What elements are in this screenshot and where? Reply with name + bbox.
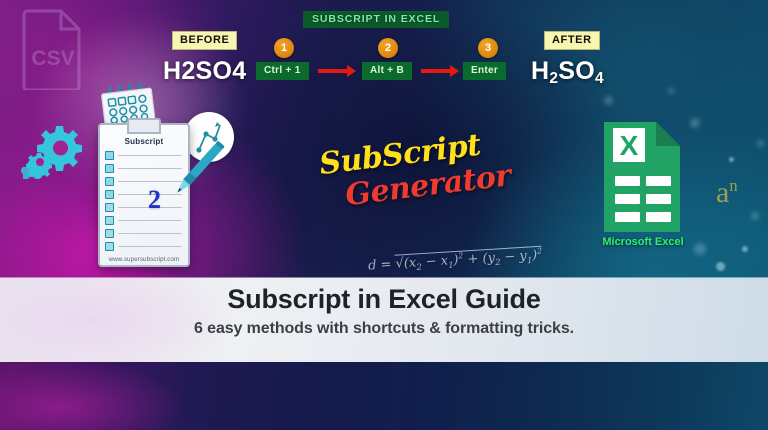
after-formula-so: SO	[558, 57, 595, 85]
infographic-canvas: CSV XLS SUBSCRIPT IN EXCEL BEFORE AFTER …	[0, 0, 768, 430]
checkbox-checked[interactable]	[105, 177, 114, 186]
step-2-badge: 2	[378, 38, 398, 58]
after-formula-sub-2: 2	[549, 70, 558, 87]
bottom-strip	[0, 362, 768, 430]
excel-logo-label: Microsoft Excel	[588, 236, 698, 248]
formula-lhs: d =	[368, 257, 396, 274]
checkbox-checked[interactable]	[105, 190, 114, 199]
formula-open-x: (x	[403, 256, 416, 272]
exponent-symbol: an	[716, 176, 738, 210]
arrow-2	[421, 69, 451, 73]
pen-icon	[160, 133, 234, 207]
arrow-1	[318, 69, 348, 73]
checkbox-empty[interactable]	[105, 242, 114, 251]
page-title: Subscript in Excel Guide	[0, 284, 768, 315]
checklist-item	[105, 214, 182, 227]
step-2-shortcut: Alt + B	[362, 62, 412, 80]
checklist-line	[118, 233, 182, 234]
step-3-shortcut: Enter	[463, 62, 506, 80]
after-label: AFTER	[544, 31, 600, 50]
after-formula-sub-4: 4	[595, 70, 604, 87]
checkbox-empty[interactable]	[105, 216, 114, 225]
csv-file-icon: CSV	[22, 8, 84, 90]
before-label: BEFORE	[172, 31, 237, 50]
page-subtitle: 6 easy methods with shortcuts & formatti…	[0, 320, 768, 338]
excel-letter: X	[620, 130, 639, 161]
after-formula: H2SO4	[531, 57, 604, 86]
formula-sup-2b: 2	[537, 247, 543, 256]
step-1-shortcut: Ctrl + 1	[256, 62, 309, 80]
formula-plus-y: + (y	[463, 251, 495, 268]
exponent-power: n	[729, 176, 737, 195]
checklist-line	[118, 246, 182, 247]
formula-minus-x: − x	[421, 254, 448, 271]
checkbox-empty[interactable]	[105, 203, 114, 212]
step-1-badge: 1	[274, 38, 294, 58]
clipboard-url: www.supersubscript.com	[100, 256, 188, 263]
checklist-item	[105, 240, 182, 253]
formula-minus-y: − y	[500, 249, 527, 266]
after-formula-h: H	[531, 57, 549, 85]
title-band: Subscript in Excel Guide 6 easy methods …	[0, 278, 768, 362]
puzzle-piece-icon	[18, 160, 44, 190]
before-formula: H2SO4	[163, 57, 246, 86]
checkbox-empty[interactable]	[105, 229, 114, 238]
header-title-badge: SUBSCRIPT IN EXCEL	[303, 11, 449, 28]
checklist-line	[118, 220, 182, 221]
excel-logo-icon: X	[604, 122, 680, 232]
checkbox-checked[interactable]	[105, 164, 114, 173]
csv-icon-label: CSV	[31, 47, 74, 70]
exponent-base: a	[716, 176, 729, 209]
clipboard-clamp	[127, 118, 161, 134]
step-3-badge: 3	[478, 38, 498, 58]
checkbox-checked[interactable]	[105, 151, 114, 160]
checklist-item	[105, 227, 182, 240]
